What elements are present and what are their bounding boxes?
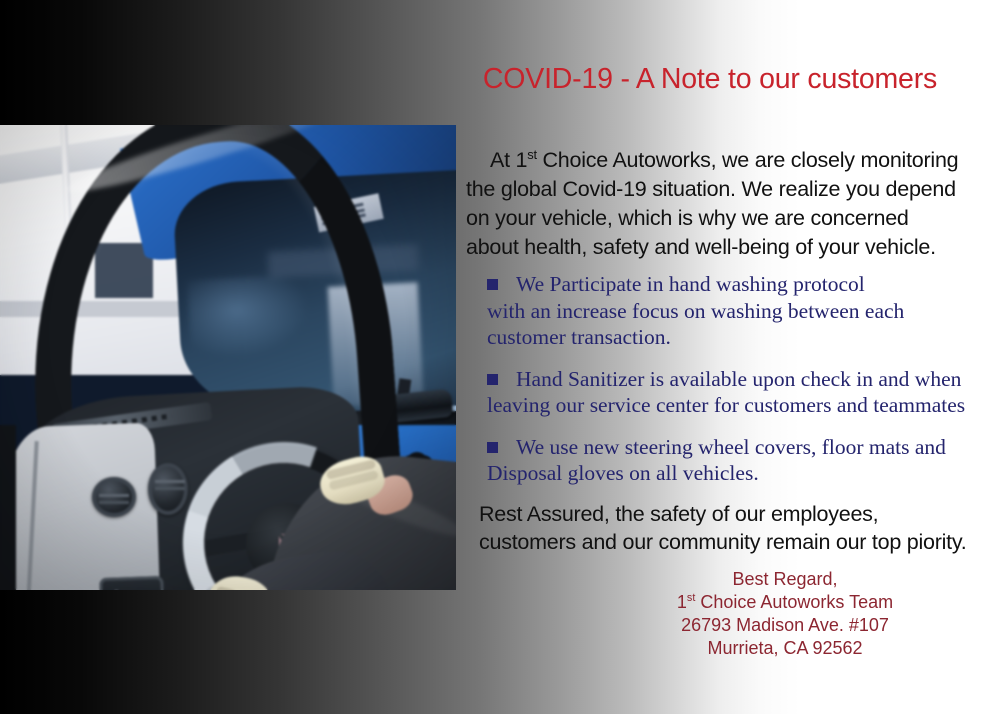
photo-air-vent-slats (99, 494, 129, 497)
intro-line1-pre: At 1 (490, 148, 527, 172)
ordinal-suffix-st: st (527, 147, 537, 162)
square-bullet-icon (487, 374, 498, 385)
bullet-3-line2: Disposal gloves on all vehicles. (487, 461, 759, 485)
closing-paragraph: Rest Assured, the safety of our employee… (479, 500, 1000, 556)
photo-air-vent-slats (155, 480, 185, 483)
bullet-1-line1: We Participate in hand washing protocol (516, 272, 865, 296)
signature-salutation: Best Regard, (620, 568, 950, 591)
signature-company-pre: 1 (677, 592, 687, 612)
photo-headlight-knob (108, 589, 126, 590)
intro-line4: about health, safety and well-being of y… (466, 235, 936, 259)
intro-line3: on your vehicle, which is why we are con… (466, 206, 909, 230)
bullet-1-line3: customer transaction. (487, 325, 671, 349)
list-item: Hand Sanitizer is available upon check i… (487, 366, 1000, 419)
page-title: COVID-19 - A Note to our customers (440, 63, 980, 96)
signature-block: Best Regard, 1st Choice Autoworks Team 2… (620, 568, 950, 660)
intro-line1-post: Choice Autoworks, we are closely monitor… (537, 148, 959, 172)
photo-door-outer-edge (0, 455, 22, 590)
intro-line2: the global Covid-19 situation. We realiz… (466, 177, 956, 201)
photo-headlight-switch-panel (99, 576, 164, 590)
square-bullet-icon (487, 442, 498, 453)
slide-canvas: ✠ COVID-19 - A Note to our customers At … (0, 0, 1000, 714)
closing-line2: customers and our community remain our t… (479, 530, 967, 554)
signature-company-post: Choice Autoworks Team (695, 592, 893, 612)
square-bullet-icon (487, 279, 498, 290)
photo-air-vent-left (92, 477, 136, 517)
list-item: We Participate in hand washing protocol … (487, 271, 1000, 351)
bullet-2-line1: Hand Sanitizer is available upon check i… (516, 367, 961, 391)
bullet-2-line2: leaving our service center for customers… (487, 393, 965, 417)
signature-company: 1st Choice Autoworks Team (620, 591, 950, 614)
photo-illustration: ✠ (0, 125, 456, 590)
intro-paragraph: At 1st Choice Autoworks, we are closely … (466, 146, 1000, 262)
list-item: We use new steering wheel covers, floor … (487, 434, 1000, 487)
signature-city-state-zip: Murrieta, CA 92562 (620, 637, 950, 660)
closing-line1: Rest Assured, the safety of our employee… (479, 502, 878, 526)
photo-air-vent-right (148, 463, 188, 515)
bullet-1-line2: with an increase focus on washing betwee… (487, 299, 904, 323)
signature-street-address: 26793 Madison Ave. #107 (620, 614, 950, 637)
bullet-3-line1: We use new steering wheel covers, floor … (516, 435, 946, 459)
bullet-list: We Participate in hand washing protocol … (487, 271, 1000, 502)
vehicle-interior-photo: ✠ (0, 125, 456, 590)
